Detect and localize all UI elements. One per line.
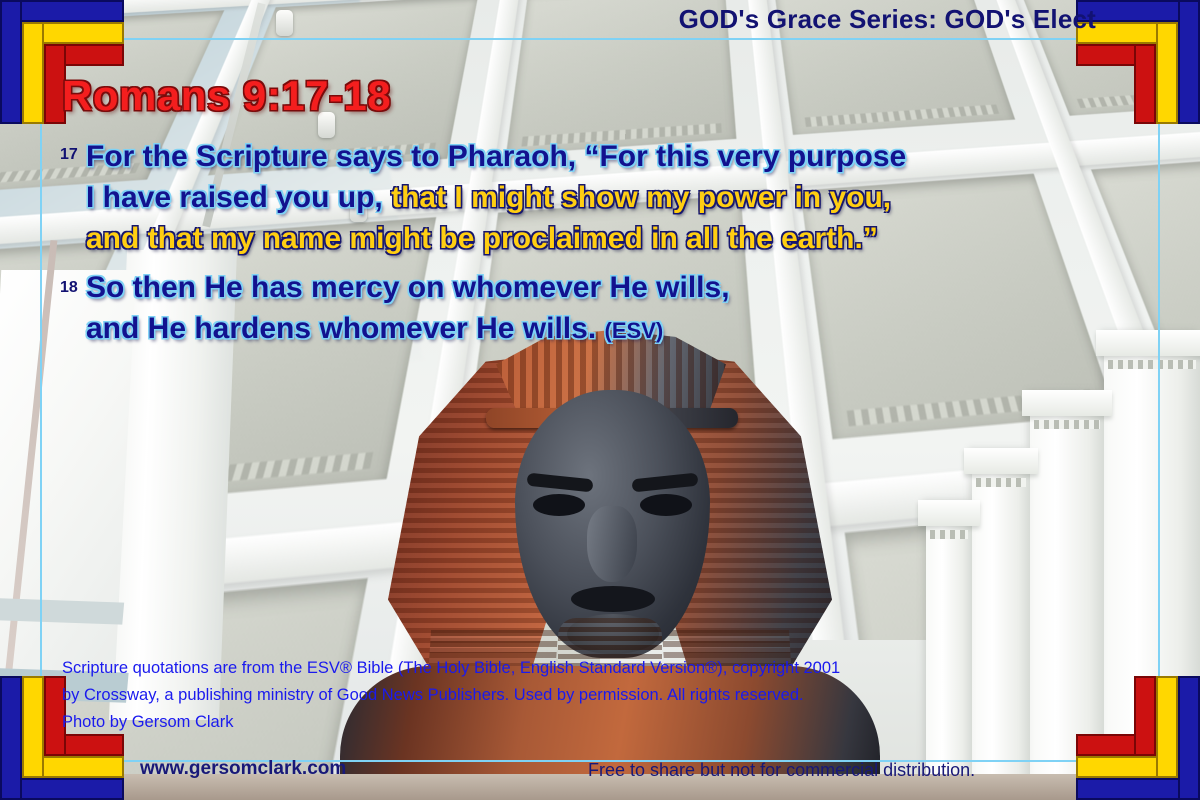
- series-title: GOD's Grace Series: GOD's Elect: [679, 4, 1096, 35]
- verse-line-segment: and He hardens whomever He wills.: [86, 312, 596, 345]
- verse-block-17: 17 For the Scripture says to Pharaoh, “F…: [60, 136, 1140, 259]
- copyright-credit: Scripture quotations are from the ESV® B…: [62, 655, 1142, 736]
- verse-line: So then He has mercy on whomever He will…: [86, 267, 1140, 308]
- verse-number: 18: [60, 267, 86, 297]
- credit-line-2: by Crossway, a publishing ministry of Go…: [62, 682, 1142, 709]
- verse-line: For the Scripture says to Pharaoh, “For …: [86, 136, 1140, 177]
- spotlight: [276, 10, 293, 36]
- scripture-text: 17 For the Scripture says to Pharaoh, “F…: [60, 136, 1140, 351]
- verse-number: 17: [60, 136, 86, 164]
- verse-line-segment: I have raised you up,: [86, 181, 383, 214]
- verse-lines: So then He has mercy on whomever He will…: [86, 267, 1140, 351]
- verse-lines: For the Scripture says to Pharaoh, “For …: [86, 136, 1140, 259]
- verse-line: and He hardens whomever He wills. (ESV): [86, 308, 1140, 351]
- verse-line-segment: that I might show my power in you,: [391, 181, 891, 214]
- verse-line: I have raised you up, that I might show …: [86, 177, 1140, 218]
- scripture-reference-title: Romans 9:17-18: [62, 72, 391, 120]
- credit-line-1: Scripture quotations are from the ESV® B…: [62, 655, 1142, 682]
- verse-block-18: 18 So then He has mercy on whomever He w…: [60, 267, 1140, 351]
- translation-tag: (ESV): [605, 318, 664, 343]
- verse-line: and that my name might be proclaimed in …: [86, 218, 1140, 259]
- website-url[interactable]: www.gersomclark.com: [140, 758, 346, 780]
- share-notice: Free to share but not for commercial dis…: [588, 760, 975, 781]
- scripture-slide: GOD's Grace Series: GOD's Elect Romans 9…: [0, 0, 1200, 800]
- credit-line-3: Photo by Gersom Clark: [62, 709, 1142, 736]
- bottom-bar: www.gersomclark.com Free to share but no…: [0, 754, 1200, 794]
